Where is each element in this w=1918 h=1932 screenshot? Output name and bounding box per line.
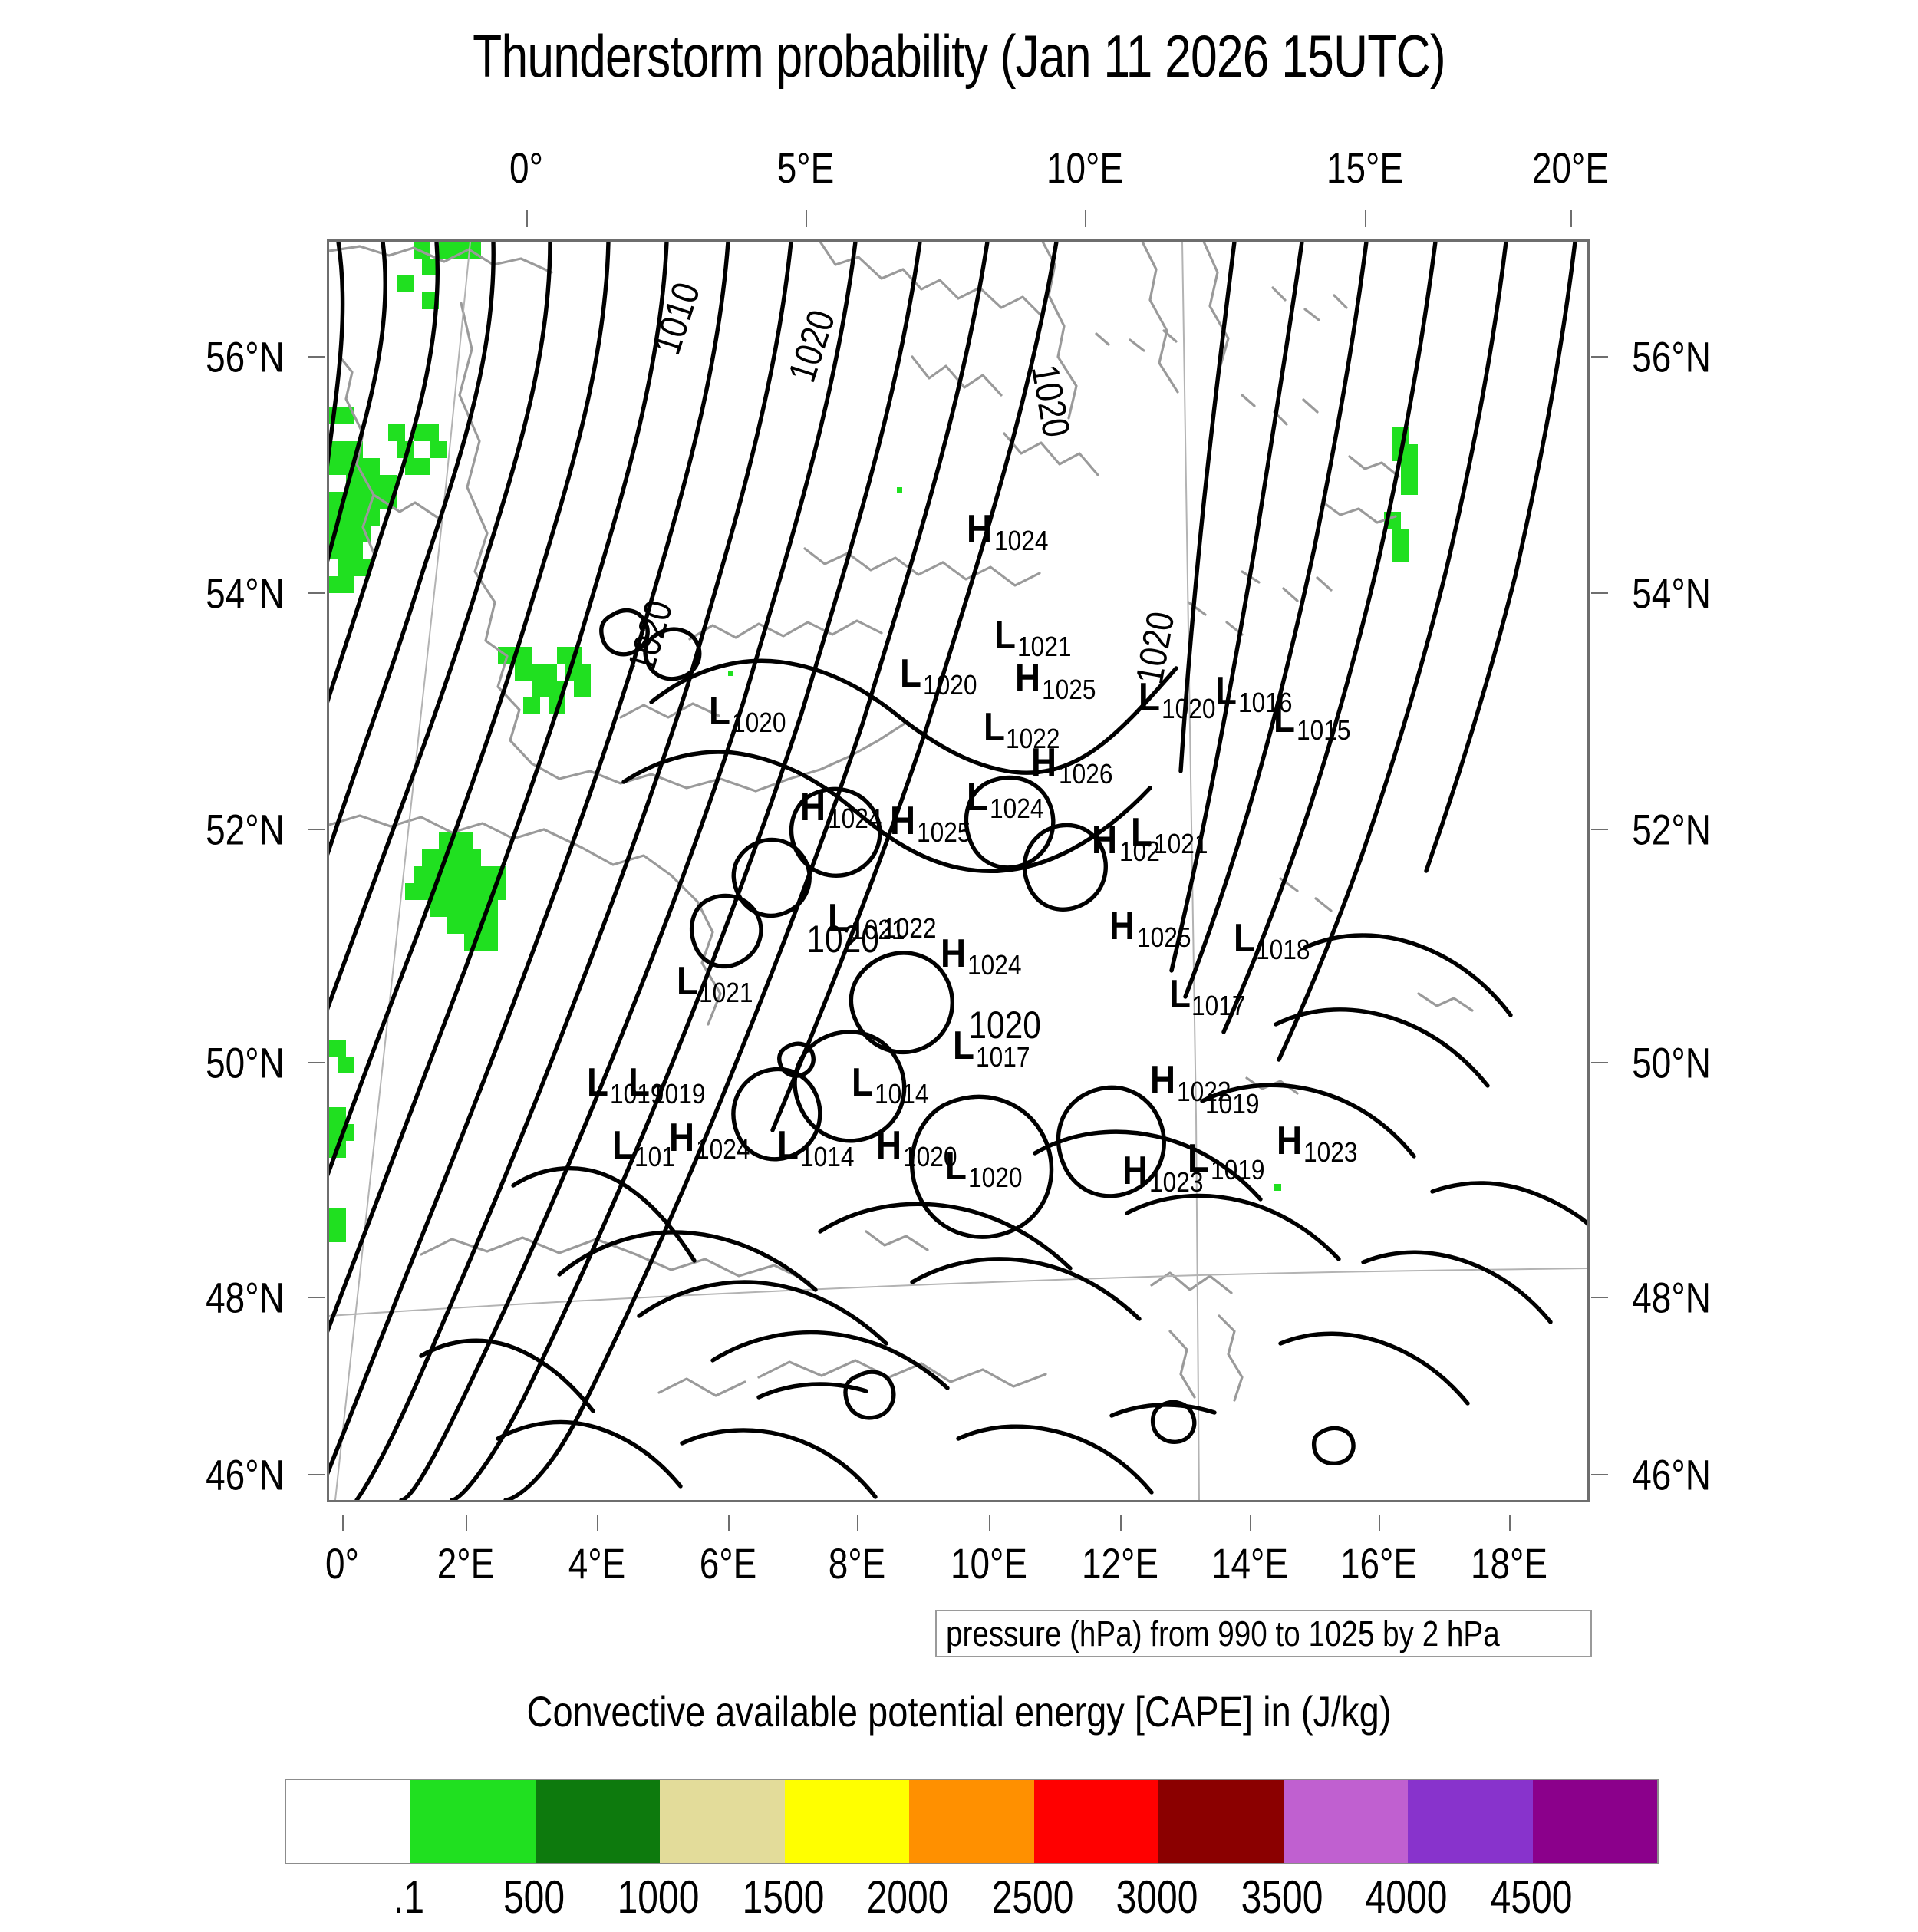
high-pressure-marker-11: H1024	[800, 787, 889, 827]
tick-mark	[1250, 1515, 1251, 1531]
top-tick-label-1: 5°E	[777, 143, 835, 193]
tick-mark	[308, 829, 325, 830]
low-pressure-marker-35: L1019	[1188, 1139, 1272, 1179]
pressure-symbol: L	[1234, 918, 1255, 958]
pressure-value: 1020	[923, 671, 977, 699]
pressure-symbol: L	[1169, 974, 1191, 1014]
low-pressure-marker-23: L1014	[852, 1063, 936, 1103]
colorbar-label-7: 3500	[1241, 1871, 1323, 1924]
low-pressure-marker-7: L1015	[1274, 699, 1358, 739]
pressure-value: 1021	[1154, 830, 1208, 858]
high-pressure-marker-33: H1023	[1277, 1121, 1366, 1161]
tick-mark	[308, 592, 325, 594]
pressure-value: 1024	[990, 795, 1043, 823]
tick-mark	[1570, 210, 1572, 227]
tick-mark	[308, 356, 325, 358]
pressure-value: 1014	[875, 1080, 928, 1108]
pressure-symbol: L	[677, 961, 698, 1001]
tick-mark	[1379, 1515, 1380, 1531]
colorbar-label-8: 4000	[1366, 1871, 1448, 1924]
low-pressure-marker-25: L1019	[628, 1063, 713, 1103]
pressure-value-marker-16: 1022	[884, 915, 944, 942]
pressure-value: 101	[634, 1143, 675, 1171]
left-tick-label-4: 48°N	[206, 1273, 285, 1323]
top-tick-label-0: 0°	[509, 143, 543, 193]
colorbar-cell-4[interactable]	[785, 1780, 909, 1863]
pressure-value: 1024	[994, 527, 1048, 555]
pressure-symbol: H	[1109, 906, 1135, 946]
low-pressure-marker-32: L1020	[945, 1146, 1030, 1186]
bottom-tick-label-8: 16°E	[1340, 1538, 1417, 1588]
left-tick-label-5: 46°N	[206, 1449, 285, 1499]
low-pressure-marker-14: L1021	[1131, 813, 1215, 852]
tick-mark	[1085, 210, 1086, 227]
pressure-value: 1017	[1191, 992, 1245, 1020]
pressure-symbol: L	[1274, 699, 1295, 739]
pressure-symbol: H	[967, 509, 992, 549]
colorbar-cell-10[interactable]	[1533, 1780, 1657, 1863]
pressure-symbol: L	[1215, 671, 1237, 711]
pressure-value: 1019	[651, 1080, 705, 1108]
colorbar-label-5: 2500	[991, 1871, 1073, 1924]
colorbar-cell-7[interactable]	[1158, 1780, 1283, 1863]
high-pressure-marker-2: H1025	[1015, 658, 1104, 698]
pressure-symbol: L	[1188, 1139, 1209, 1179]
tick-mark	[342, 1515, 344, 1531]
pressure-value: 1020	[732, 709, 786, 737]
colorbar-label-4: 2000	[867, 1871, 949, 1924]
low-pressure-marker-10: L1024	[967, 777, 1051, 817]
bottom-tick-label-3: 6°E	[700, 1538, 757, 1588]
high-pressure-marker-12: H1025	[890, 801, 979, 841]
pressure-symbol: H	[941, 934, 966, 974]
pressure-symbol: L	[1131, 813, 1152, 852]
pressure-symbol: L	[900, 654, 921, 694]
tick-mark	[1591, 356, 1608, 358]
tick-mark	[308, 1474, 325, 1475]
pressure-symbol: H	[800, 787, 826, 827]
bottom-tick-label-0: 0°	[325, 1538, 359, 1588]
tick-mark	[728, 1515, 730, 1531]
pressure-legend-box: pressure (hPa) from 990 to 1025 by 2 hPa	[935, 1610, 1592, 1657]
bottom-tick-label-9: 18°E	[1471, 1538, 1547, 1588]
tick-mark	[1591, 1297, 1608, 1298]
pressure-value: 1024	[696, 1136, 750, 1163]
pressure-symbol: H	[1015, 658, 1040, 698]
pressure-symbol: L	[828, 898, 849, 938]
pressure-value: 1026	[1059, 760, 1112, 788]
high-pressure-marker-17: H1025	[1109, 906, 1198, 946]
low-pressure-marker-18: L1018	[1234, 918, 1318, 958]
bottom-tick-label-4: 8°E	[829, 1538, 886, 1588]
pressure-symbol: H	[1122, 1151, 1148, 1191]
pressure-symbol: L	[777, 1126, 799, 1165]
top-tick-label-4: 20°E	[1532, 143, 1609, 193]
right-tick-label-2: 52°N	[1632, 804, 1711, 854]
right-tick-label-1: 54°N	[1632, 568, 1711, 618]
bottom-tick-label-7: 14°E	[1211, 1538, 1288, 1588]
pressure-value: 1025	[1137, 924, 1191, 951]
pressure-value: 1020	[968, 1164, 1022, 1192]
pressure-symbol: L	[587, 1063, 608, 1103]
pressure-value: 1015	[1297, 717, 1350, 744]
pressure-symbol: L	[1139, 678, 1160, 717]
colorbar-label-1: 500	[503, 1871, 565, 1924]
pressure-value: 1021	[699, 979, 753, 1007]
low-pressure-marker-20: L1021	[677, 961, 761, 1001]
tick-mark	[1591, 829, 1608, 830]
bottom-tick-label-6: 12°E	[1082, 1538, 1158, 1588]
pressure-symbol: L	[612, 1126, 634, 1165]
tick-mark	[597, 1515, 598, 1531]
right-tick-label-4: 48°N	[1632, 1273, 1711, 1323]
pressure-legend-text: pressure (hPa) from 990 to 1025 by 2 hPa	[946, 1613, 1500, 1654]
pressure-value: 1020	[1162, 695, 1215, 723]
low-pressure-marker-3: L1020	[900, 654, 984, 694]
high-pressure-marker-19: H1024	[941, 934, 1030, 974]
cape-colorbar[interactable]	[285, 1779, 1659, 1864]
colorbar-title: Convective available potential energy [C…	[153, 1686, 1765, 1736]
bottom-tick-label-1: 2°E	[437, 1538, 495, 1588]
pressure-value: 1024	[967, 951, 1021, 979]
low-pressure-marker-22: L1017	[953, 1026, 1037, 1066]
colorbar-tick-labels: .150010001500200025003000350040004500	[285, 1871, 1656, 1932]
low-pressure-marker-29: L101	[612, 1126, 681, 1165]
pressure-symbol: L	[953, 1026, 974, 1066]
pressure-symbol: H	[1277, 1121, 1302, 1161]
pressure-symbol: L	[709, 691, 730, 731]
pressure-symbol: L	[994, 615, 1016, 655]
colorbar-cell-1[interactable]	[410, 1780, 535, 1863]
pressure-value: 1025	[917, 819, 971, 846]
low-pressure-marker-21: L1017	[1169, 974, 1254, 1014]
bottom-tick-label-5: 10°E	[950, 1538, 1027, 1588]
tick-mark	[308, 1297, 325, 1298]
top-tick-label-2: 10°E	[1046, 143, 1123, 193]
pressure-symbol: L	[628, 1063, 650, 1103]
colorbar-cell-5[interactable]	[909, 1780, 1033, 1863]
colorbar-label-3: 1500	[742, 1871, 824, 1924]
colorbar-cell-2[interactable]	[536, 1780, 660, 1863]
tick-mark	[1591, 592, 1608, 594]
colorbar-cell-6[interactable]	[1034, 1780, 1158, 1863]
left-tick-label-1: 54°N	[206, 568, 285, 618]
pressure-symbol: H	[890, 801, 915, 841]
pressure-value: 1019	[1205, 1090, 1259, 1118]
left-tick-label-3: 50°N	[206, 1038, 285, 1088]
tick-mark	[466, 1515, 467, 1531]
colorbar-cell-3[interactable]	[660, 1780, 784, 1863]
colorbar-label-9: 4500	[1490, 1871, 1572, 1924]
low-pressure-marker-30: L1014	[777, 1126, 862, 1165]
pressure-symbol: L	[945, 1146, 967, 1186]
weather-map	[329, 242, 1587, 1500]
right-tick-label-5: 46°N	[1632, 1449, 1711, 1499]
pressure-value: 1019	[1211, 1156, 1264, 1184]
tick-mark	[989, 1515, 990, 1531]
low-pressure-marker-5: L1020	[1139, 678, 1223, 717]
colorbar-label-0: .1	[394, 1871, 424, 1924]
high-pressure-marker-28: H1024	[669, 1118, 758, 1158]
pressure-symbol: H	[876, 1126, 901, 1165]
tick-mark	[857, 1515, 858, 1531]
left-tick-label-2: 52°N	[206, 804, 285, 854]
tick-mark	[1120, 1515, 1122, 1531]
tick-mark	[1365, 210, 1366, 227]
colorbar-cell-8[interactable]	[1284, 1780, 1408, 1863]
tick-mark	[806, 210, 807, 227]
pressure-value: 1025	[1042, 676, 1096, 704]
tick-mark	[1591, 1062, 1608, 1063]
colorbar-label-2: 1000	[618, 1871, 700, 1924]
left-tick-label-0: 56°N	[206, 332, 285, 382]
pressure-value: 1023	[1303, 1139, 1357, 1166]
pressure-value: 1024	[828, 805, 882, 832]
low-pressure-marker-1: L1021	[994, 615, 1079, 655]
pressure-value: 1018	[1256, 936, 1310, 964]
pressure-value-marker-27: 1019	[1207, 1090, 1267, 1118]
map-plot-area[interactable]: 1010102010201020102010201020 H1024L1021H…	[327, 239, 1590, 1502]
tick-mark	[308, 1062, 325, 1063]
colorbar-cell-0[interactable]	[286, 1780, 410, 1863]
pressure-symbol: H	[1150, 1060, 1175, 1100]
tick-mark	[1509, 1515, 1511, 1531]
top-tick-label-3: 15°E	[1326, 143, 1403, 193]
colorbar-cell-9[interactable]	[1408, 1780, 1532, 1863]
pressure-value: 1022	[882, 915, 936, 942]
tick-mark	[526, 210, 528, 227]
pressure-value: 1014	[800, 1143, 854, 1171]
bottom-tick-label-2: 4°E	[568, 1538, 626, 1588]
page-title: Thunderstorm probability (Jan 11 2026 15…	[192, 21, 1726, 91]
pressure-value: 1017	[976, 1043, 1030, 1071]
right-tick-label-3: 50°N	[1632, 1038, 1711, 1088]
tick-mark	[1591, 1474, 1608, 1475]
pressure-symbol: H	[1092, 820, 1117, 860]
pressure-symbol: L	[984, 707, 1005, 747]
pressure-symbol: L	[852, 1063, 873, 1103]
colorbar-label-6: 3000	[1116, 1871, 1198, 1924]
high-pressure-marker-0: H1024	[967, 509, 1056, 549]
right-tick-label-0: 56°N	[1632, 332, 1711, 382]
low-pressure-marker-4: L1020	[709, 691, 793, 731]
